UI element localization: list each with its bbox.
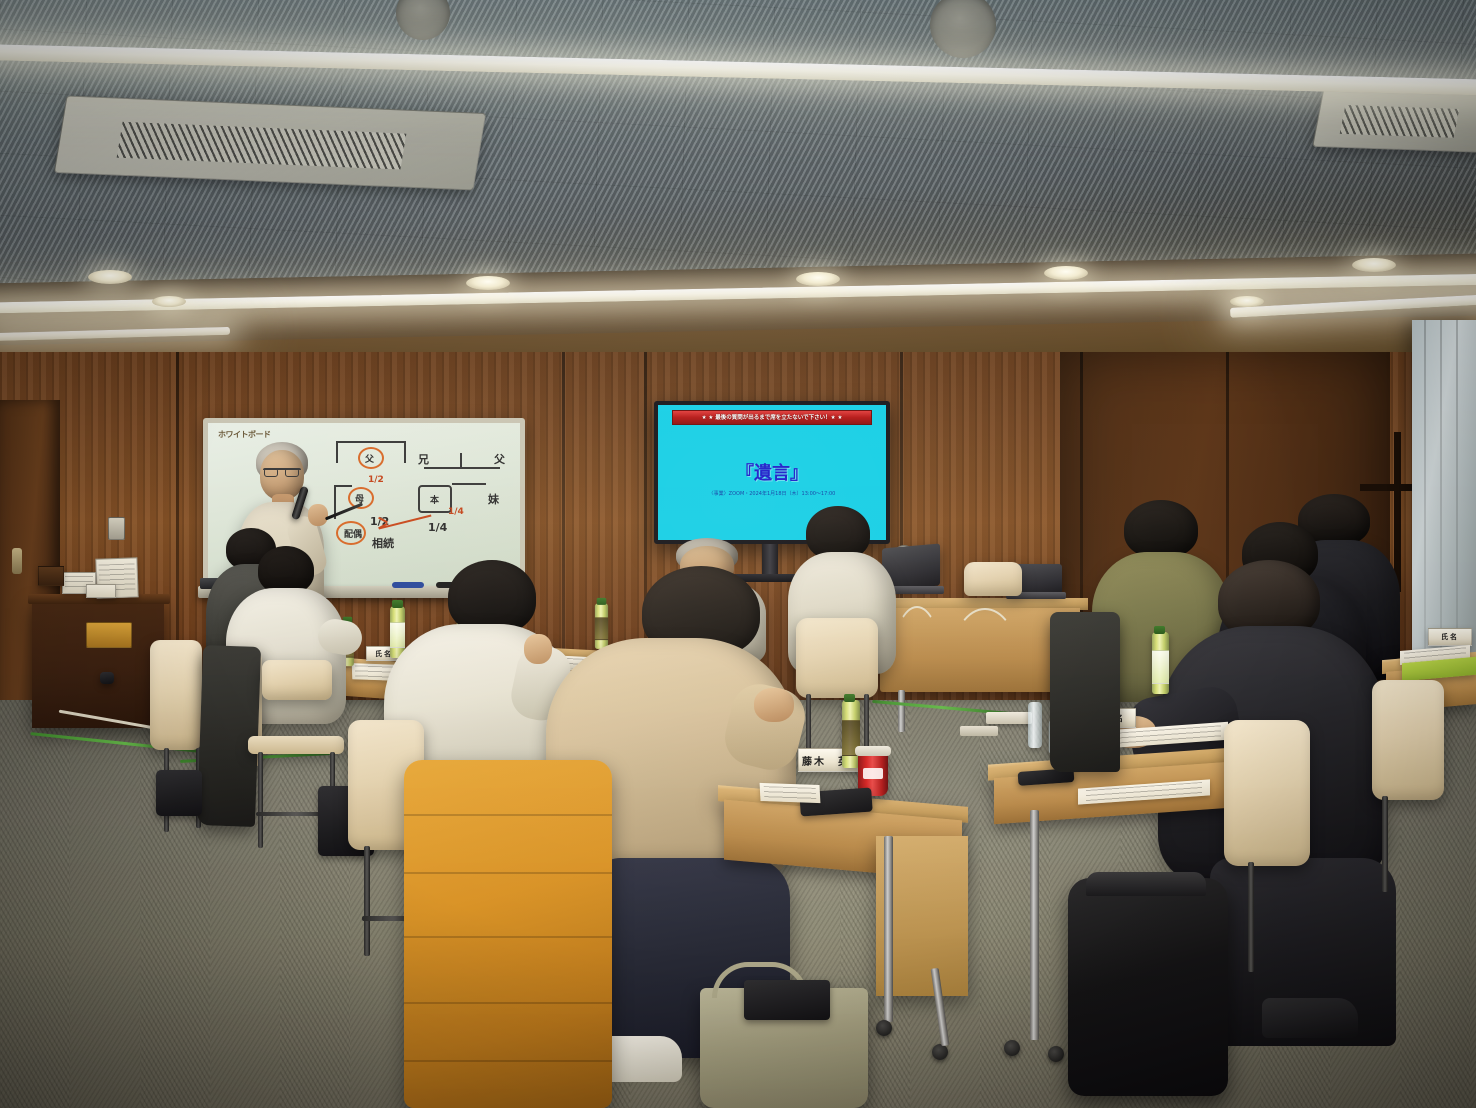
draped-coat[interactable] <box>1050 612 1120 772</box>
power-cable <box>952 608 1018 704</box>
power-strip <box>986 712 1032 724</box>
mustard-puffer-jacket[interactable] <box>404 760 612 1108</box>
chair-leg <box>258 752 263 848</box>
table-caster <box>932 1044 948 1060</box>
table-caster <box>1048 1046 1064 1062</box>
recessed-downlight <box>88 270 132 284</box>
chair-seat[interactable] <box>248 736 344 754</box>
presenter-hand <box>308 504 328 526</box>
recessed-downlight <box>466 276 510 290</box>
chair-back[interactable] <box>262 660 332 700</box>
puffer-seam <box>404 1002 612 1004</box>
wb-annotation: 1/4 <box>428 521 447 534</box>
wb-annotation: 1/4 <box>448 507 464 517</box>
floor-bag <box>156 770 202 816</box>
ceiling-air-conditioner <box>1312 85 1476 153</box>
backpack-strap <box>1086 872 1206 896</box>
wb-connector <box>404 441 406 463</box>
attendee-hand <box>524 634 552 664</box>
wb-connector <box>334 485 352 487</box>
cup-lid <box>855 746 891 756</box>
whiteboard-corner-mark: ホワイトボード <box>218 429 271 440</box>
ac-grill <box>116 122 406 170</box>
puffer-seam <box>404 936 612 938</box>
wb-connector <box>336 441 338 463</box>
attendee-shoe <box>1262 998 1358 1038</box>
table-leg <box>884 836 893 1022</box>
light-switch[interactable] <box>108 517 125 540</box>
attendee-hair <box>448 560 536 634</box>
chair-back[interactable] <box>796 618 878 698</box>
presenter-glasses-lens <box>285 468 299 477</box>
handout[interactable] <box>760 783 821 803</box>
wb-node-label: 配偶 <box>344 527 362 540</box>
chair-leg <box>1248 862 1254 972</box>
bottle-cap <box>1154 626 1165 634</box>
power-cable <box>892 606 942 716</box>
slide-banner-text: ★ ★ 最後の質問が出るまで席を立たないで下さい！★ ★ <box>702 413 843 421</box>
puffer-seam <box>404 872 612 874</box>
chair-leg <box>364 846 370 956</box>
wb-connector <box>452 483 486 485</box>
bottle-label <box>1152 650 1169 684</box>
table-caster <box>1004 1040 1020 1056</box>
tea-bottle[interactable] <box>595 603 608 649</box>
wb-node-label: 妹 <box>488 491 499 507</box>
name-placard: 氏名 <box>1428 628 1472 646</box>
bottle-label <box>390 622 405 648</box>
chair-leg <box>1382 796 1388 892</box>
whiteboard-marker[interactable] <box>392 582 424 588</box>
seminar-room-photo: ホワイトボード 父 兄 父 1/2 母 1/2 本 妹 1/4 1/4 配偶 相… <box>0 0 1476 1108</box>
chair-back[interactable] <box>1224 720 1310 866</box>
bottle-label <box>595 617 608 640</box>
wb-annotation: 1/2 <box>368 475 384 485</box>
slide-title: 『遺言』 <box>658 459 886 485</box>
attendee-hair <box>258 546 314 594</box>
table-caster <box>876 1020 892 1036</box>
wb-connector <box>460 453 462 469</box>
recessed-downlight <box>1230 296 1264 307</box>
tv-stand-neck <box>762 544 778 576</box>
chair-back[interactable] <box>1372 680 1444 800</box>
handout-lines <box>763 786 816 801</box>
presenter-glasses-lens <box>264 468 278 477</box>
water-bottle[interactable] <box>1028 702 1042 748</box>
power-strip <box>960 726 998 736</box>
bottle-cap <box>844 694 855 702</box>
wb-node-label: 父 <box>494 451 505 467</box>
table-leg <box>1030 810 1039 1040</box>
recessed-downlight <box>1044 266 1088 280</box>
bottle-cap <box>597 598 607 605</box>
recessed-downlight <box>1352 258 1396 272</box>
door-handle[interactable] <box>12 548 22 574</box>
tea-bottle[interactable] <box>1152 632 1169 694</box>
wb-node-label: 本 <box>430 493 439 506</box>
wb-annotation: 相続 <box>372 535 394 551</box>
wb-node-label: 父 <box>365 452 374 465</box>
slide-subtitle: 〈事業〉ZOOM・2024年1月18日（木）13:00〜17:00 <box>658 490 886 497</box>
slide-banner: ★ ★ 最後の質問が出るまで席を立たないで下さい！★ ★ <box>672 410 873 425</box>
recessed-downlight <box>152 296 186 307</box>
puffer-seam <box>404 814 612 816</box>
ac-grill <box>1339 105 1459 138</box>
cross-vertical <box>1394 432 1401 592</box>
puffer-seam <box>404 1060 612 1062</box>
posted-notice <box>38 566 64 586</box>
attendee-hand <box>754 688 794 722</box>
posted-notice <box>86 584 116 598</box>
black-backpack[interactable] <box>1068 878 1228 1096</box>
attendee-hair <box>1124 500 1198 558</box>
wb-connector <box>424 467 500 469</box>
storage-case <box>86 622 132 648</box>
wb-node-label: 兄 <box>418 451 429 467</box>
tote-contents <box>744 980 830 1020</box>
operator-chair-back[interactable] <box>964 562 1022 596</box>
bottle-cap <box>392 600 403 608</box>
chair-back[interactable] <box>150 640 202 750</box>
wb-connector <box>336 441 406 443</box>
side-cabinet <box>32 600 164 728</box>
wall-outlet-box <box>100 672 114 684</box>
recessed-downlight <box>796 272 840 286</box>
cup-logo <box>863 768 883 779</box>
